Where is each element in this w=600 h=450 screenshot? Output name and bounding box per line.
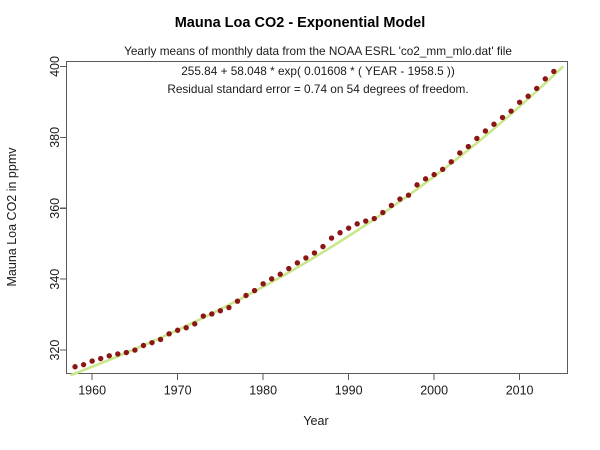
chart-title: Mauna Loa CO2 - Exponential Model bbox=[175, 15, 426, 31]
data-point bbox=[337, 230, 342, 235]
data-point bbox=[500, 115, 505, 120]
data-point bbox=[440, 167, 445, 172]
data-point bbox=[158, 337, 163, 342]
data-point bbox=[354, 221, 359, 226]
data-point bbox=[89, 358, 94, 363]
y-tick-label: 340 bbox=[48, 269, 62, 290]
data-point bbox=[423, 176, 428, 181]
data-point bbox=[115, 351, 120, 356]
data-point bbox=[474, 136, 479, 141]
data-point bbox=[132, 347, 137, 352]
data-point bbox=[431, 172, 436, 177]
chart-figure: Mauna Loa CO2 - Exponential Model Yearly… bbox=[0, 0, 600, 450]
data-point bbox=[320, 244, 325, 249]
data-point bbox=[295, 260, 300, 265]
data-point bbox=[491, 122, 496, 127]
data-point bbox=[543, 76, 548, 81]
data-point bbox=[260, 281, 265, 286]
data-point bbox=[235, 298, 240, 303]
data-point bbox=[312, 250, 317, 255]
y-tick-label: 360 bbox=[48, 198, 62, 219]
data-point bbox=[286, 266, 291, 271]
data-point bbox=[201, 313, 206, 318]
y-tick-label: 380 bbox=[48, 127, 62, 148]
data-point bbox=[406, 192, 411, 197]
data-point bbox=[98, 356, 103, 361]
data-point bbox=[380, 210, 385, 215]
data-point bbox=[457, 150, 462, 155]
data-point bbox=[209, 311, 214, 316]
data-point bbox=[517, 100, 522, 105]
data-point bbox=[166, 331, 171, 336]
data-point bbox=[363, 218, 368, 223]
data-point bbox=[226, 305, 231, 310]
x-tick-label: 1990 bbox=[335, 384, 363, 398]
data-point bbox=[183, 325, 188, 330]
y-tick-label: 320 bbox=[48, 340, 62, 361]
data-point bbox=[414, 182, 419, 187]
data-point bbox=[72, 364, 77, 369]
data-point bbox=[389, 203, 394, 208]
data-point bbox=[252, 288, 257, 293]
data-point bbox=[508, 108, 513, 113]
data-point bbox=[483, 128, 488, 133]
model-equation-annotation: 255.84 + 58.048 * exp( 0.01608 * ( YEAR … bbox=[181, 64, 455, 78]
y-tick-label: 400 bbox=[48, 56, 62, 77]
data-point bbox=[278, 272, 283, 277]
data-point bbox=[124, 350, 129, 355]
x-tick-label: 1960 bbox=[78, 384, 106, 398]
data-point bbox=[107, 353, 112, 358]
data-point bbox=[525, 94, 530, 99]
data-point bbox=[149, 340, 154, 345]
co2-exponential-model-chart: Mauna Loa CO2 - Exponential Model Yearly… bbox=[0, 0, 600, 450]
data-point bbox=[141, 343, 146, 348]
data-point bbox=[372, 216, 377, 221]
x-tick-label: 2000 bbox=[420, 384, 448, 398]
data-point bbox=[192, 321, 197, 326]
chart-subtitle: Yearly means of monthly data from the NO… bbox=[124, 44, 512, 58]
data-point bbox=[397, 196, 402, 201]
x-tick-label: 1970 bbox=[164, 384, 192, 398]
x-tick-label: 1980 bbox=[249, 384, 277, 398]
data-point bbox=[551, 69, 556, 74]
data-point bbox=[329, 235, 334, 240]
data-point bbox=[449, 159, 454, 164]
data-point bbox=[269, 276, 274, 281]
y-axis-title: Mauna Loa CO2 in ppmv bbox=[5, 147, 19, 287]
data-point bbox=[81, 362, 86, 367]
data-point bbox=[346, 225, 351, 230]
x-axis-title: Year bbox=[303, 414, 328, 428]
residual-error-annotation: Residual standard error = 0.74 on 54 deg… bbox=[167, 82, 468, 96]
data-point bbox=[243, 293, 248, 298]
data-point bbox=[303, 255, 308, 260]
data-point bbox=[466, 144, 471, 149]
data-point bbox=[218, 308, 223, 313]
x-tick-label: 2010 bbox=[506, 384, 534, 398]
data-point bbox=[175, 328, 180, 333]
data-point bbox=[534, 86, 539, 91]
